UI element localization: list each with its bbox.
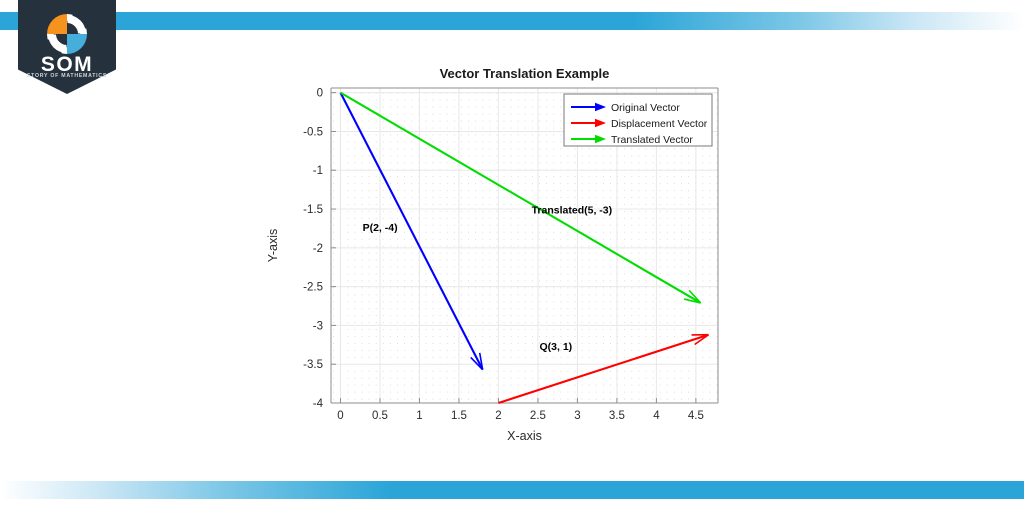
annotation-label: P(2, -4) xyxy=(363,222,398,234)
top-banner-stripe xyxy=(0,12,1024,30)
x-axis-label: X-axis xyxy=(507,429,542,443)
annotation-label: Q(3, 1) xyxy=(540,341,573,353)
y-axis-tick-labels: 0-0.5-1-1.5-2-2.5-3-3.5-4 xyxy=(303,88,323,410)
x-tick-label: 2.5 xyxy=(530,410,546,422)
logo-tagline: STORY OF MATHEMATICS xyxy=(18,74,116,79)
y-tick-label: -3 xyxy=(313,320,323,332)
legend-label: Translated Vector xyxy=(611,134,693,146)
chart-legend[interactable]: Original VectorDisplacement VectorTransl… xyxy=(564,94,712,146)
y-tick-label: -3.5 xyxy=(303,359,323,371)
x-tick-label: 1 xyxy=(416,410,422,422)
y-axis-label: Y-axis xyxy=(266,229,280,263)
som-logo-badge: SOM STORY OF MATHEMATICS xyxy=(18,0,116,94)
y-tick-label: -1 xyxy=(313,165,323,177)
bottom-banner-stripe xyxy=(0,481,1024,499)
y-tick-label: -2 xyxy=(313,243,323,255)
x-tick-label: 1.5 xyxy=(451,410,467,422)
y-tick-label: -1.5 xyxy=(303,204,323,216)
logo-wordmark: SOM xyxy=(18,54,116,75)
som-logo-mark-icon xyxy=(45,12,89,56)
y-tick-label: -0.5 xyxy=(303,126,323,138)
vector-translation-chart: 00.511.522.533.544.5 0-0.5-1-1.5-2-2.5-3… xyxy=(255,58,755,458)
chart-figure: 00.511.522.533.544.5 0-0.5-1-1.5-2-2.5-3… xyxy=(255,58,755,458)
x-tick-label: 3.5 xyxy=(609,410,625,422)
x-tick-label: 2 xyxy=(495,410,501,422)
x-tick-label: 3 xyxy=(574,410,580,422)
y-tick-label: 0 xyxy=(317,88,323,100)
chart-title: Vector Translation Example xyxy=(440,66,610,81)
legend-label: Displacement Vector xyxy=(611,118,708,130)
x-tick-label: 4 xyxy=(653,410,660,422)
x-tick-label: 0.5 xyxy=(372,410,388,422)
x-tick-label: 4.5 xyxy=(688,410,704,422)
annotation-label: Translated(5, -3) xyxy=(532,205,613,217)
x-tick-label: 0 xyxy=(337,410,343,422)
y-tick-label: -2.5 xyxy=(303,282,323,294)
y-tick-label: -4 xyxy=(313,398,324,410)
x-axis-tick-labels: 00.511.522.533.544.5 xyxy=(337,410,704,422)
legend-label: Original Vector xyxy=(611,102,680,114)
